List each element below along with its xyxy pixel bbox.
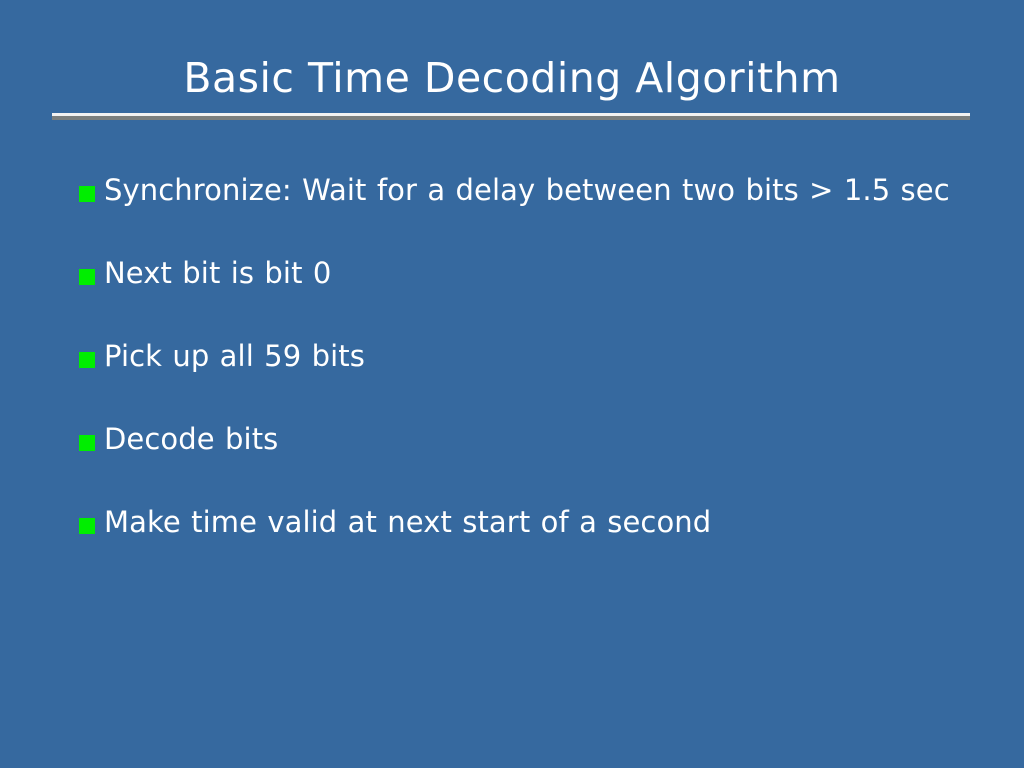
bullet-label: Make time valid at next start of a secon…	[104, 504, 959, 541]
list-item: Decode bits	[79, 421, 959, 458]
square-bullet-icon	[79, 186, 95, 202]
bullet-label: Next bit is bit 0	[104, 255, 959, 292]
square-bullet-icon	[79, 269, 95, 285]
title-divider-shadow	[52, 116, 970, 120]
list-item: Pick up all 59 bits	[79, 338, 959, 375]
list-item: Make time valid at next start of a secon…	[79, 504, 959, 541]
bullet-label: Pick up all 59 bits	[104, 338, 959, 375]
title-divider	[52, 113, 970, 120]
bullet-label: Synchronize: Wait for a delay between tw…	[104, 172, 959, 209]
square-bullet-icon	[79, 352, 95, 368]
page-title: Basic Time Decoding Algorithm	[0, 52, 1024, 104]
square-bullet-icon	[79, 518, 95, 534]
list-item: Next bit is bit 0	[79, 255, 959, 292]
slide-title-block: Basic Time Decoding Algorithm	[0, 52, 1024, 104]
list-item: Synchronize: Wait for a delay between tw…	[79, 172, 959, 209]
presentation-slide: Basic Time Decoding Algorithm Synchroniz…	[0, 0, 1024, 768]
square-bullet-icon	[79, 435, 95, 451]
bullet-label: Decode bits	[104, 421, 959, 458]
bullet-list: Synchronize: Wait for a delay between tw…	[79, 172, 959, 541]
